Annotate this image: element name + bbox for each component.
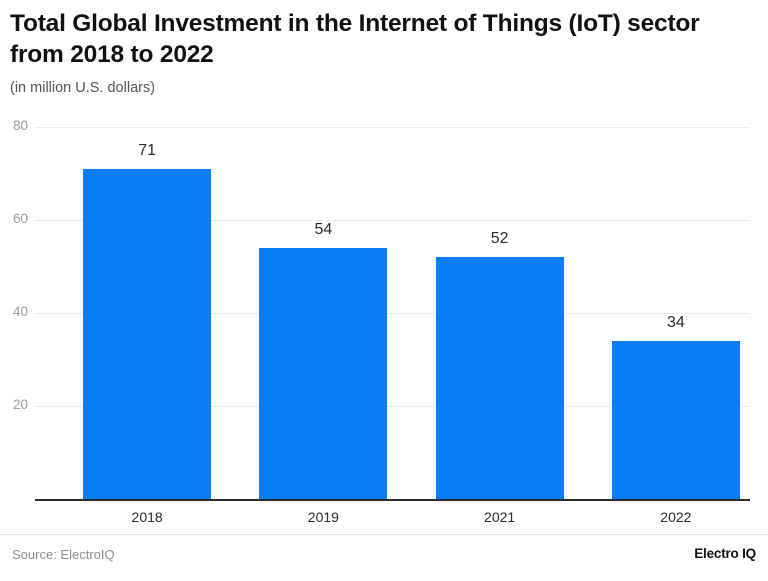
- gridline: [35, 127, 750, 128]
- x-axis-line: [35, 499, 750, 501]
- bar-2021[interactable]: [436, 257, 564, 499]
- chart-page: Total Global Investment in the Internet …: [0, 0, 768, 581]
- y-axis-tick-label: 20: [0, 397, 28, 412]
- bar-chart-plot: 20406080 71545234 2018201920212022: [0, 0, 768, 581]
- x-axis-tick-label-2018: 2018: [83, 509, 211, 525]
- source-label: Source: ElectroIQ: [12, 547, 115, 562]
- y-axis-tick-label: 40: [0, 304, 28, 319]
- footer-divider: [0, 534, 768, 535]
- bar-2019[interactable]: [259, 248, 387, 499]
- x-axis-tick-label-2021: 2021: [436, 509, 564, 525]
- bar-value-label-2022: 34: [612, 314, 740, 332]
- y-axis-tick-label: 80: [0, 118, 28, 133]
- bar-2018[interactable]: [83, 169, 211, 499]
- bar-value-label-2019: 54: [259, 221, 387, 239]
- bar-value-label-2018: 71: [83, 142, 211, 160]
- x-axis-tick-label-2019: 2019: [259, 509, 387, 525]
- bar-value-label-2021: 52: [436, 230, 564, 248]
- brand-logo: Electro IQ: [694, 546, 756, 561]
- y-axis-tick-label: 60: [0, 211, 28, 226]
- x-axis-tick-label-2022: 2022: [612, 509, 740, 525]
- bar-2022[interactable]: [612, 341, 740, 499]
